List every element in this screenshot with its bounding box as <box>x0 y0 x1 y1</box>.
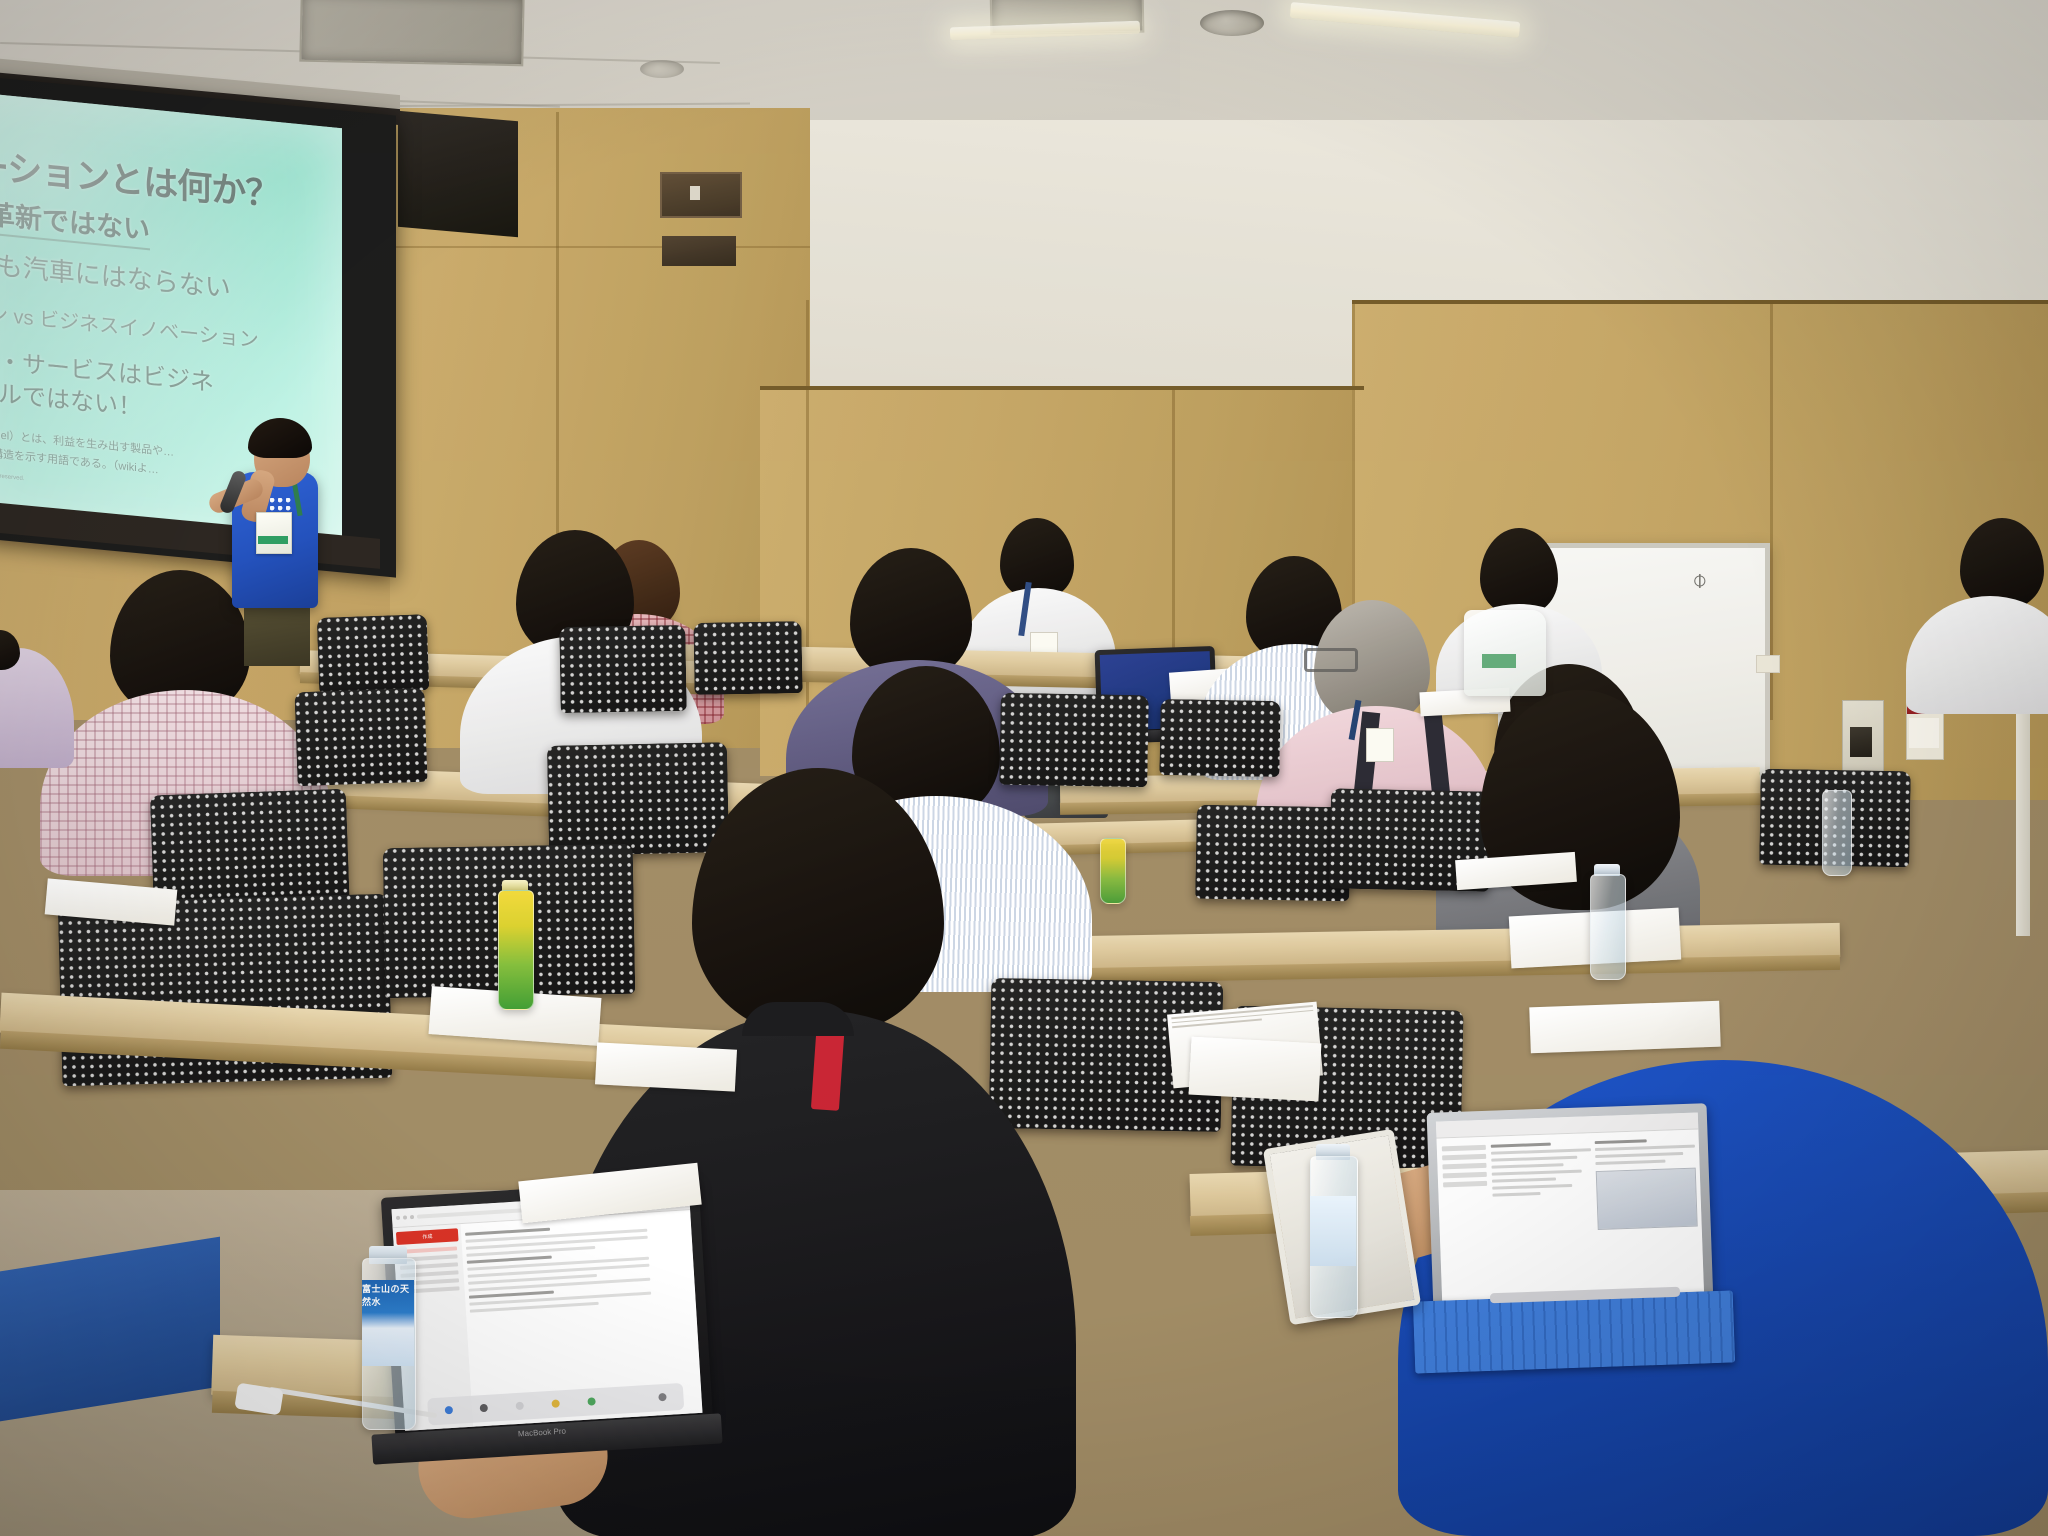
browser-dot <box>403 1215 407 1219</box>
chair[interactable] <box>1159 699 1280 777</box>
document-column-right <box>1594 1134 1700 1303</box>
speaker-bracket <box>690 186 700 200</box>
wall-seam <box>392 246 810 248</box>
thumbnail[interactable] <box>1442 1154 1486 1161</box>
chair[interactable] <box>693 621 802 695</box>
document-line <box>1491 1149 1591 1155</box>
document-sheet <box>1189 1037 1322 1102</box>
document-line <box>1492 1192 1540 1197</box>
ceiling-speaker-1 <box>1200 10 1264 36</box>
seminar-room-photo: …ーションとは何か？ …術革新ではない …ても汽車にはならない …ョン vs ビ… <box>0 0 2048 1536</box>
gmail-folder-inbox[interactable] <box>399 1246 458 1254</box>
presenter-name-badge <box>256 512 292 554</box>
compose-button[interactable]: 作成 <box>396 1228 459 1245</box>
dock-icon-messages[interactable] <box>587 1397 595 1405</box>
attendee-badge <box>1366 728 1394 762</box>
chair[interactable] <box>317 614 430 694</box>
eyeglasses <box>1304 648 1358 672</box>
ceiling-speaker-2 <box>640 60 684 78</box>
air-vent <box>299 0 524 66</box>
chair[interactable] <box>559 625 686 713</box>
document-heading <box>1490 1143 1550 1148</box>
gmail-subject[interactable] <box>467 1255 551 1263</box>
document-line <box>1492 1184 1572 1190</box>
dock-icon-notes[interactable] <box>551 1400 559 1408</box>
chair[interactable] <box>999 693 1149 788</box>
document-line <box>1492 1178 1556 1183</box>
document-sheet <box>595 1042 737 1091</box>
dock-icon-settings[interactable] <box>480 1404 488 1412</box>
plastic-bag <box>1464 610 1546 696</box>
wall-dark-panel <box>398 111 518 237</box>
document-line <box>1595 1160 1665 1165</box>
wall-trim <box>760 386 1364 390</box>
document-heading <box>1595 1140 1647 1145</box>
document-column-left <box>1490 1138 1596 1304</box>
surface-screen <box>1436 1112 1704 1303</box>
chair[interactable] <box>1195 805 1351 902</box>
dock-icon-music[interactable] <box>623 1395 631 1403</box>
green-tea-bottle <box>1100 838 1126 904</box>
polo-collar <box>742 1002 854 1036</box>
presenter-badge-stripe <box>258 536 288 544</box>
thumbnail[interactable] <box>1442 1145 1486 1152</box>
document-line <box>1491 1156 1577 1162</box>
thumbnail[interactable] <box>1442 1163 1486 1170</box>
macbook-screen: 作成 <box>392 1191 703 1431</box>
surface-keyboard[interactable] <box>1413 1290 1735 1373</box>
document-sheet <box>1529 1001 1720 1054</box>
dock-icon-safari[interactable] <box>516 1402 524 1410</box>
whiteboard-eraser <box>1756 655 1780 673</box>
chair[interactable] <box>547 742 729 856</box>
wall-trim <box>1352 300 2048 304</box>
dock-icon-finder[interactable] <box>444 1406 452 1414</box>
whiteboard-doodle: ⌽ <box>1692 566 1718 598</box>
surface-right[interactable] <box>1427 1103 1714 1313</box>
document-line <box>1595 1152 1683 1158</box>
wall-speaker-lower <box>662 236 736 266</box>
water-bottle-label <box>1310 1196 1356 1266</box>
light-switch[interactable] <box>1850 727 1872 757</box>
thumbnail[interactable] <box>1443 1172 1487 1179</box>
green-tea-bottle <box>498 890 534 1010</box>
fuji-water-label: 富士山の天然水 <box>362 1280 414 1366</box>
chair[interactable] <box>294 688 427 786</box>
plastic-bag-print <box>1482 654 1516 668</box>
gmail-subject[interactable] <box>469 1290 553 1298</box>
gmail-subject[interactable] <box>466 1227 550 1235</box>
document-figure <box>1596 1168 1698 1230</box>
document-line <box>1595 1145 1695 1151</box>
alarm-label-plate <box>1909 718 1939 748</box>
document-thumbnail-pane[interactable] <box>1441 1141 1492 1303</box>
water-bottle <box>1822 790 1852 876</box>
document-line <box>1491 1164 1563 1170</box>
browser-dot <box>410 1215 414 1219</box>
dock-icon-trash[interactable] <box>658 1393 666 1401</box>
thumbnail[interactable] <box>1443 1181 1487 1188</box>
water-bottle <box>1590 874 1626 980</box>
surface-document <box>1437 1130 1705 1304</box>
browser-dot <box>396 1216 400 1220</box>
wall-speaker <box>660 172 742 218</box>
document-line <box>1491 1170 1581 1176</box>
